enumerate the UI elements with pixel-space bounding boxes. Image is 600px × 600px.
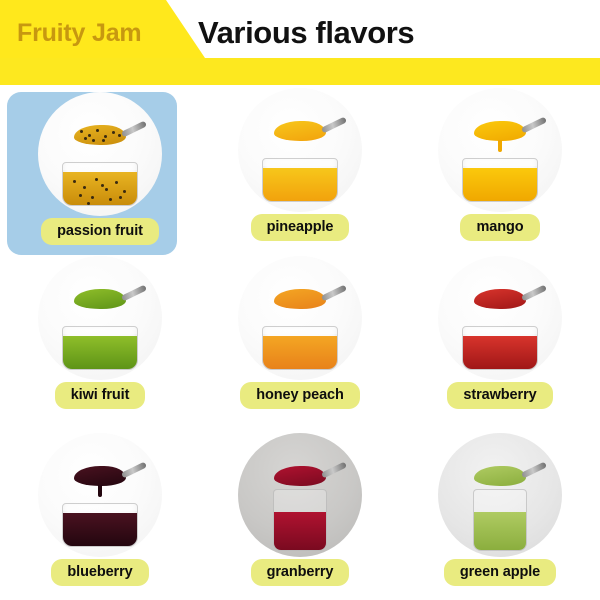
brand-title: Fruity Jam	[17, 19, 141, 48]
jam-drip	[498, 140, 502, 152]
jam-jar	[262, 326, 338, 370]
flavor-cell[interactable]: passion fruit	[0, 85, 200, 255]
jam-spoon-icon	[274, 121, 326, 141]
flavor-cell[interactable]: pineapple	[200, 85, 400, 255]
jam-jar	[462, 326, 538, 370]
flavor-cell[interactable]: granberry	[200, 423, 400, 600]
flavor-label: granberry	[251, 559, 350, 587]
jam-spoon-icon	[274, 466, 326, 486]
jam-jar	[262, 158, 338, 202]
jam-spoon-icon	[474, 466, 526, 486]
flavor-label: blueberry	[51, 559, 148, 587]
header-yellow-bar	[0, 58, 600, 85]
flavor-label: pineapple	[251, 214, 350, 242]
flavor-image	[238, 433, 362, 557]
jam-jar	[62, 326, 138, 370]
jam-spoon-icon	[74, 289, 126, 309]
jam-jar	[62, 503, 138, 547]
jam-spoon-icon	[474, 121, 526, 141]
flavor-image	[438, 433, 562, 557]
jam-jar	[462, 158, 538, 202]
jam-spoon-icon	[74, 466, 126, 486]
jam-spoon-icon	[74, 125, 126, 145]
jam-flavors-page: Fruity Jam Various flavors passion fruit	[0, 0, 600, 600]
flavor-cell[interactable]: blueberry	[0, 423, 200, 600]
jam-spoon-icon	[274, 289, 326, 309]
flavor-image	[238, 88, 362, 212]
flavor-image	[438, 88, 562, 212]
jam-jar	[62, 162, 138, 206]
flavor-label: strawberry	[447, 382, 552, 410]
flavor-image	[38, 256, 162, 380]
flavor-label: passion fruit	[41, 218, 159, 246]
jam-glass	[473, 489, 527, 551]
jam-spoon-icon	[474, 289, 526, 309]
page-title: Various flavors	[198, 15, 414, 51]
flavor-image	[438, 256, 562, 380]
flavor-cell[interactable]: kiwi fruit	[0, 255, 200, 423]
flavor-image	[38, 92, 162, 216]
flavor-label: green apple	[444, 559, 556, 587]
page-header: Fruity Jam Various flavors	[0, 0, 600, 85]
flavor-image	[38, 433, 162, 557]
flavor-label: mango	[460, 214, 539, 242]
jam-seeds	[63, 172, 137, 205]
flavor-label: kiwi fruit	[55, 382, 146, 410]
flavor-cell[interactable]: strawberry	[400, 255, 600, 423]
jam-drip	[98, 485, 102, 497]
scoop-seeds	[74, 125, 126, 145]
jam-glass	[273, 489, 327, 551]
flavor-image	[238, 256, 362, 380]
flavor-grid: passion fruit pineapple	[0, 85, 600, 600]
flavor-label: honey peach	[240, 382, 360, 410]
flavor-cell[interactable]: green apple	[400, 423, 600, 600]
flavor-cell[interactable]: honey peach	[200, 255, 400, 423]
flavor-cell[interactable]: mango	[400, 85, 600, 255]
